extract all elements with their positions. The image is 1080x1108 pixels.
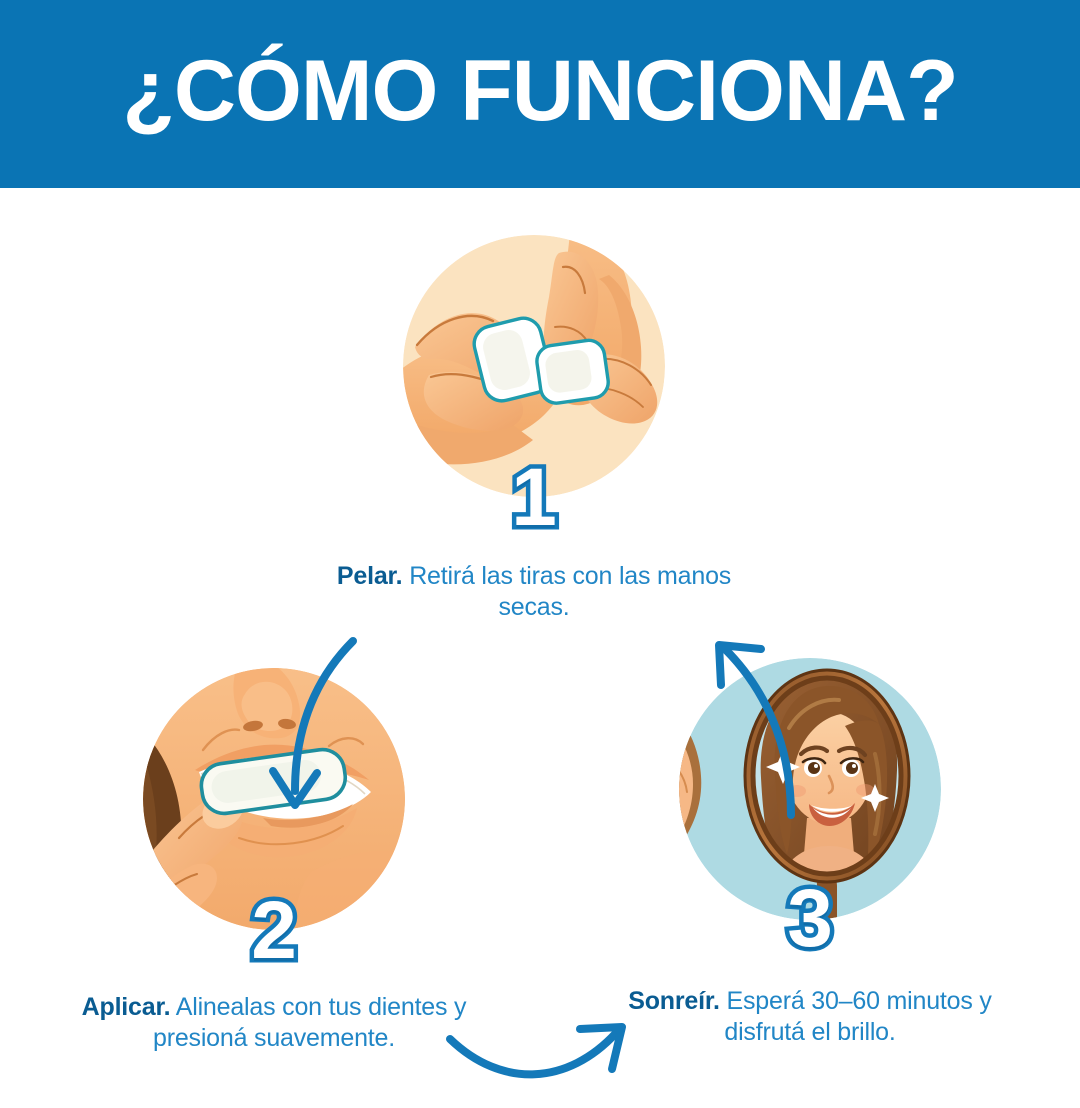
step-1: 1 Pelar. Retirá las tiras con las manos … (330, 235, 738, 622)
arrow-step2-to-step3-icon (440, 1013, 640, 1108)
step-2-number: 2 (251, 890, 297, 972)
step-1-text: Retirá las tiras con las manos secas. (409, 562, 731, 621)
steps-stage: 1 Pelar. Retirá las tiras con las manos … (0, 188, 1080, 1080)
step-1-illustration: 1 (403, 235, 665, 497)
arrow-step1-to-step2-icon (255, 633, 375, 828)
step-1-caption: Pelar. Retirá las tiras con las manos se… (330, 561, 738, 622)
step-3-label: Sonreír. (628, 987, 720, 1015)
step-3-number: 3 (787, 878, 833, 960)
header-banner: ¿CÓMO FUNCIONA? (0, 0, 1080, 188)
step-2-label: Aplicar. (82, 993, 171, 1021)
step-3-text: Esperá 30–60 minutos y disfrutá el brill… (724, 987, 991, 1046)
page-title: ¿CÓMO FUNCIONA? (122, 48, 957, 140)
step-2-text: Alinealas con tus dientes y presioná sua… (153, 993, 466, 1052)
step-1-label: Pelar. (337, 562, 403, 590)
step-1-number: 1 (511, 457, 557, 539)
arrow-step3-to-step1-icon (705, 633, 825, 828)
step-2-caption: Aplicar. Alinealas con tus dientes y pre… (50, 992, 498, 1053)
step-3-caption: Sonreír. Esperá 30–60 minutos y disfrutá… (610, 986, 1010, 1047)
